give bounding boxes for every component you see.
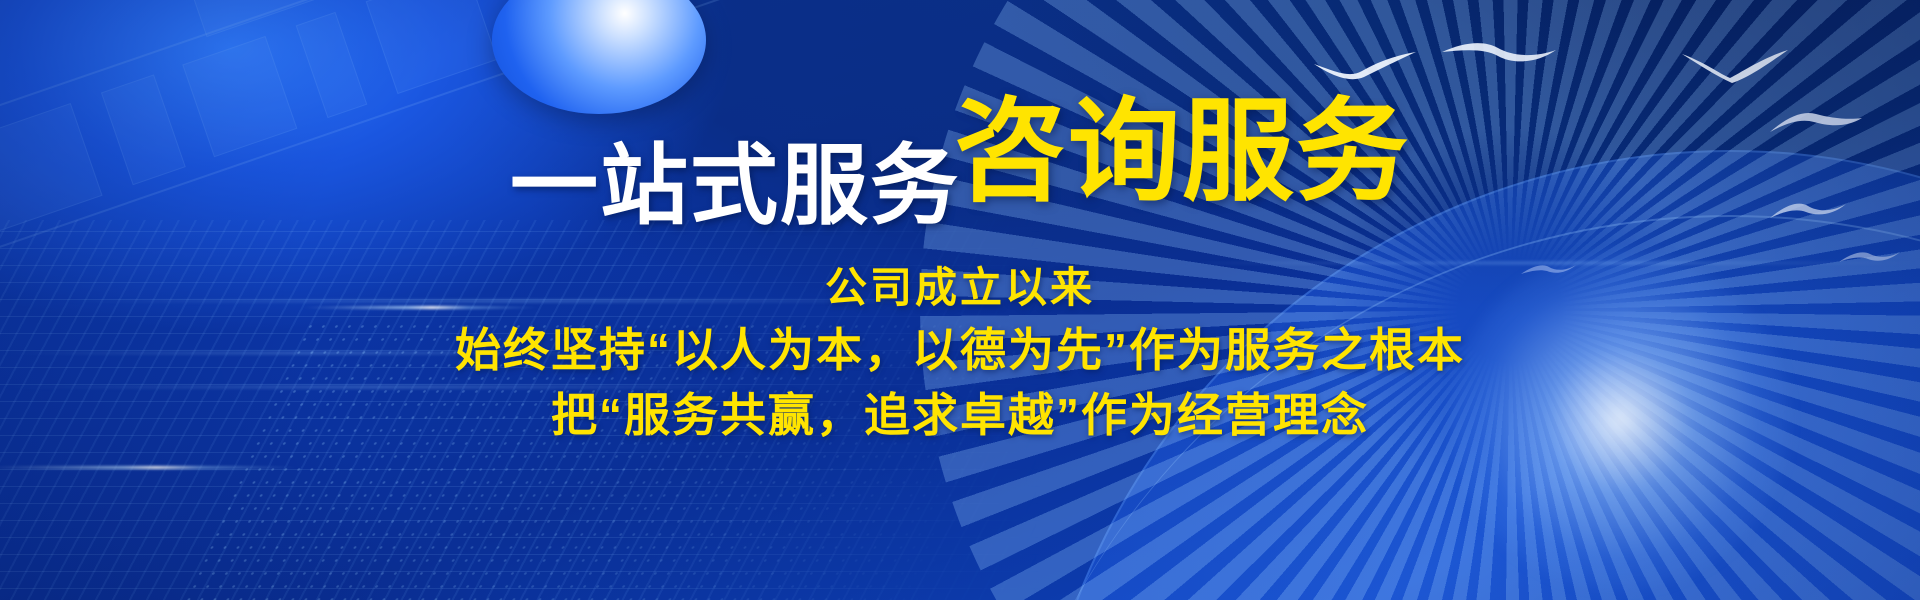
body-line-2: 始终坚持“以人为本，以德为先”作为服务之根本 [0, 318, 1920, 383]
body-copy-group: 公司成立以来 始终坚持“以人为本，以德为先”作为服务之根本 把“服务共赢，追求卓… [0, 258, 1920, 448]
bird-icon [1680, 48, 1792, 84]
bird-icon [1440, 38, 1560, 72]
promotional-banner: 一站式服务 咨询服务 公司成立以来 始终坚持“以人为本，以德为先”作为服务之根本… [0, 0, 1920, 600]
bird-icon [1310, 48, 1420, 84]
headline-group: 一站式服务 咨询服务 [0, 96, 1920, 208]
body-line-3: 把“服务共赢，追求卓越”作为经营理念 [0, 383, 1920, 448]
body-line-1: 公司成立以来 [0, 258, 1920, 318]
headline-yellow-text: 咨询服务 [954, 96, 1410, 208]
headline-white-text: 一站式服务 [510, 142, 960, 230]
